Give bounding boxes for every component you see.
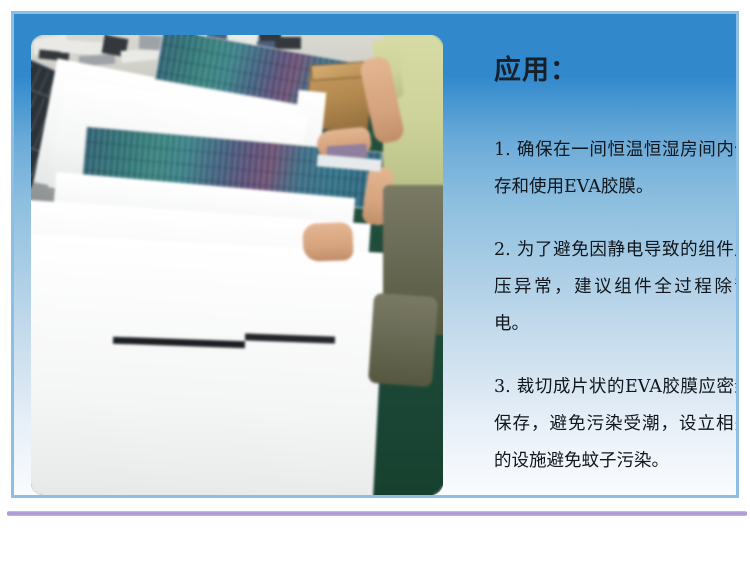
page-title: 应用：: [494, 54, 739, 88]
worker-hand: [302, 222, 353, 262]
factory-photo-scene: [31, 35, 443, 495]
application-info-panel: 应用： 1. 确保在一间恒温恒湿房间内储存和使用EVA胶膜。 2. 为了避免因静…: [11, 11, 739, 498]
eva-film-sheet: [31, 233, 386, 495]
factory-photo: [31, 35, 443, 495]
application-item-1: 1. 确保在一间恒温恒湿房间内储存和使用EVA胶膜。: [494, 132, 739, 206]
bench-clutter-item: [281, 37, 301, 49]
worker-trousers: [368, 293, 438, 387]
application-item-2: 2. 为了避免因静电导致的组件层压异常，建议组件全过程除静电。: [494, 232, 739, 343]
text-column: 应用： 1. 确保在一间恒温恒湿房间内储存和使用EVA胶膜。 2. 为了避免因静…: [484, 54, 739, 480]
page-root: 应用： 1. 确保在一间恒温恒湿房间内储存和使用EVA胶膜。 2. 为了避免因静…: [0, 0, 750, 561]
bottom-divider: [7, 511, 747, 516]
application-item-3: 3. 裁切成片状的EVA胶膜应密封保存，避免污染受潮，设立相关的设施避免蚊子污染…: [494, 369, 739, 480]
